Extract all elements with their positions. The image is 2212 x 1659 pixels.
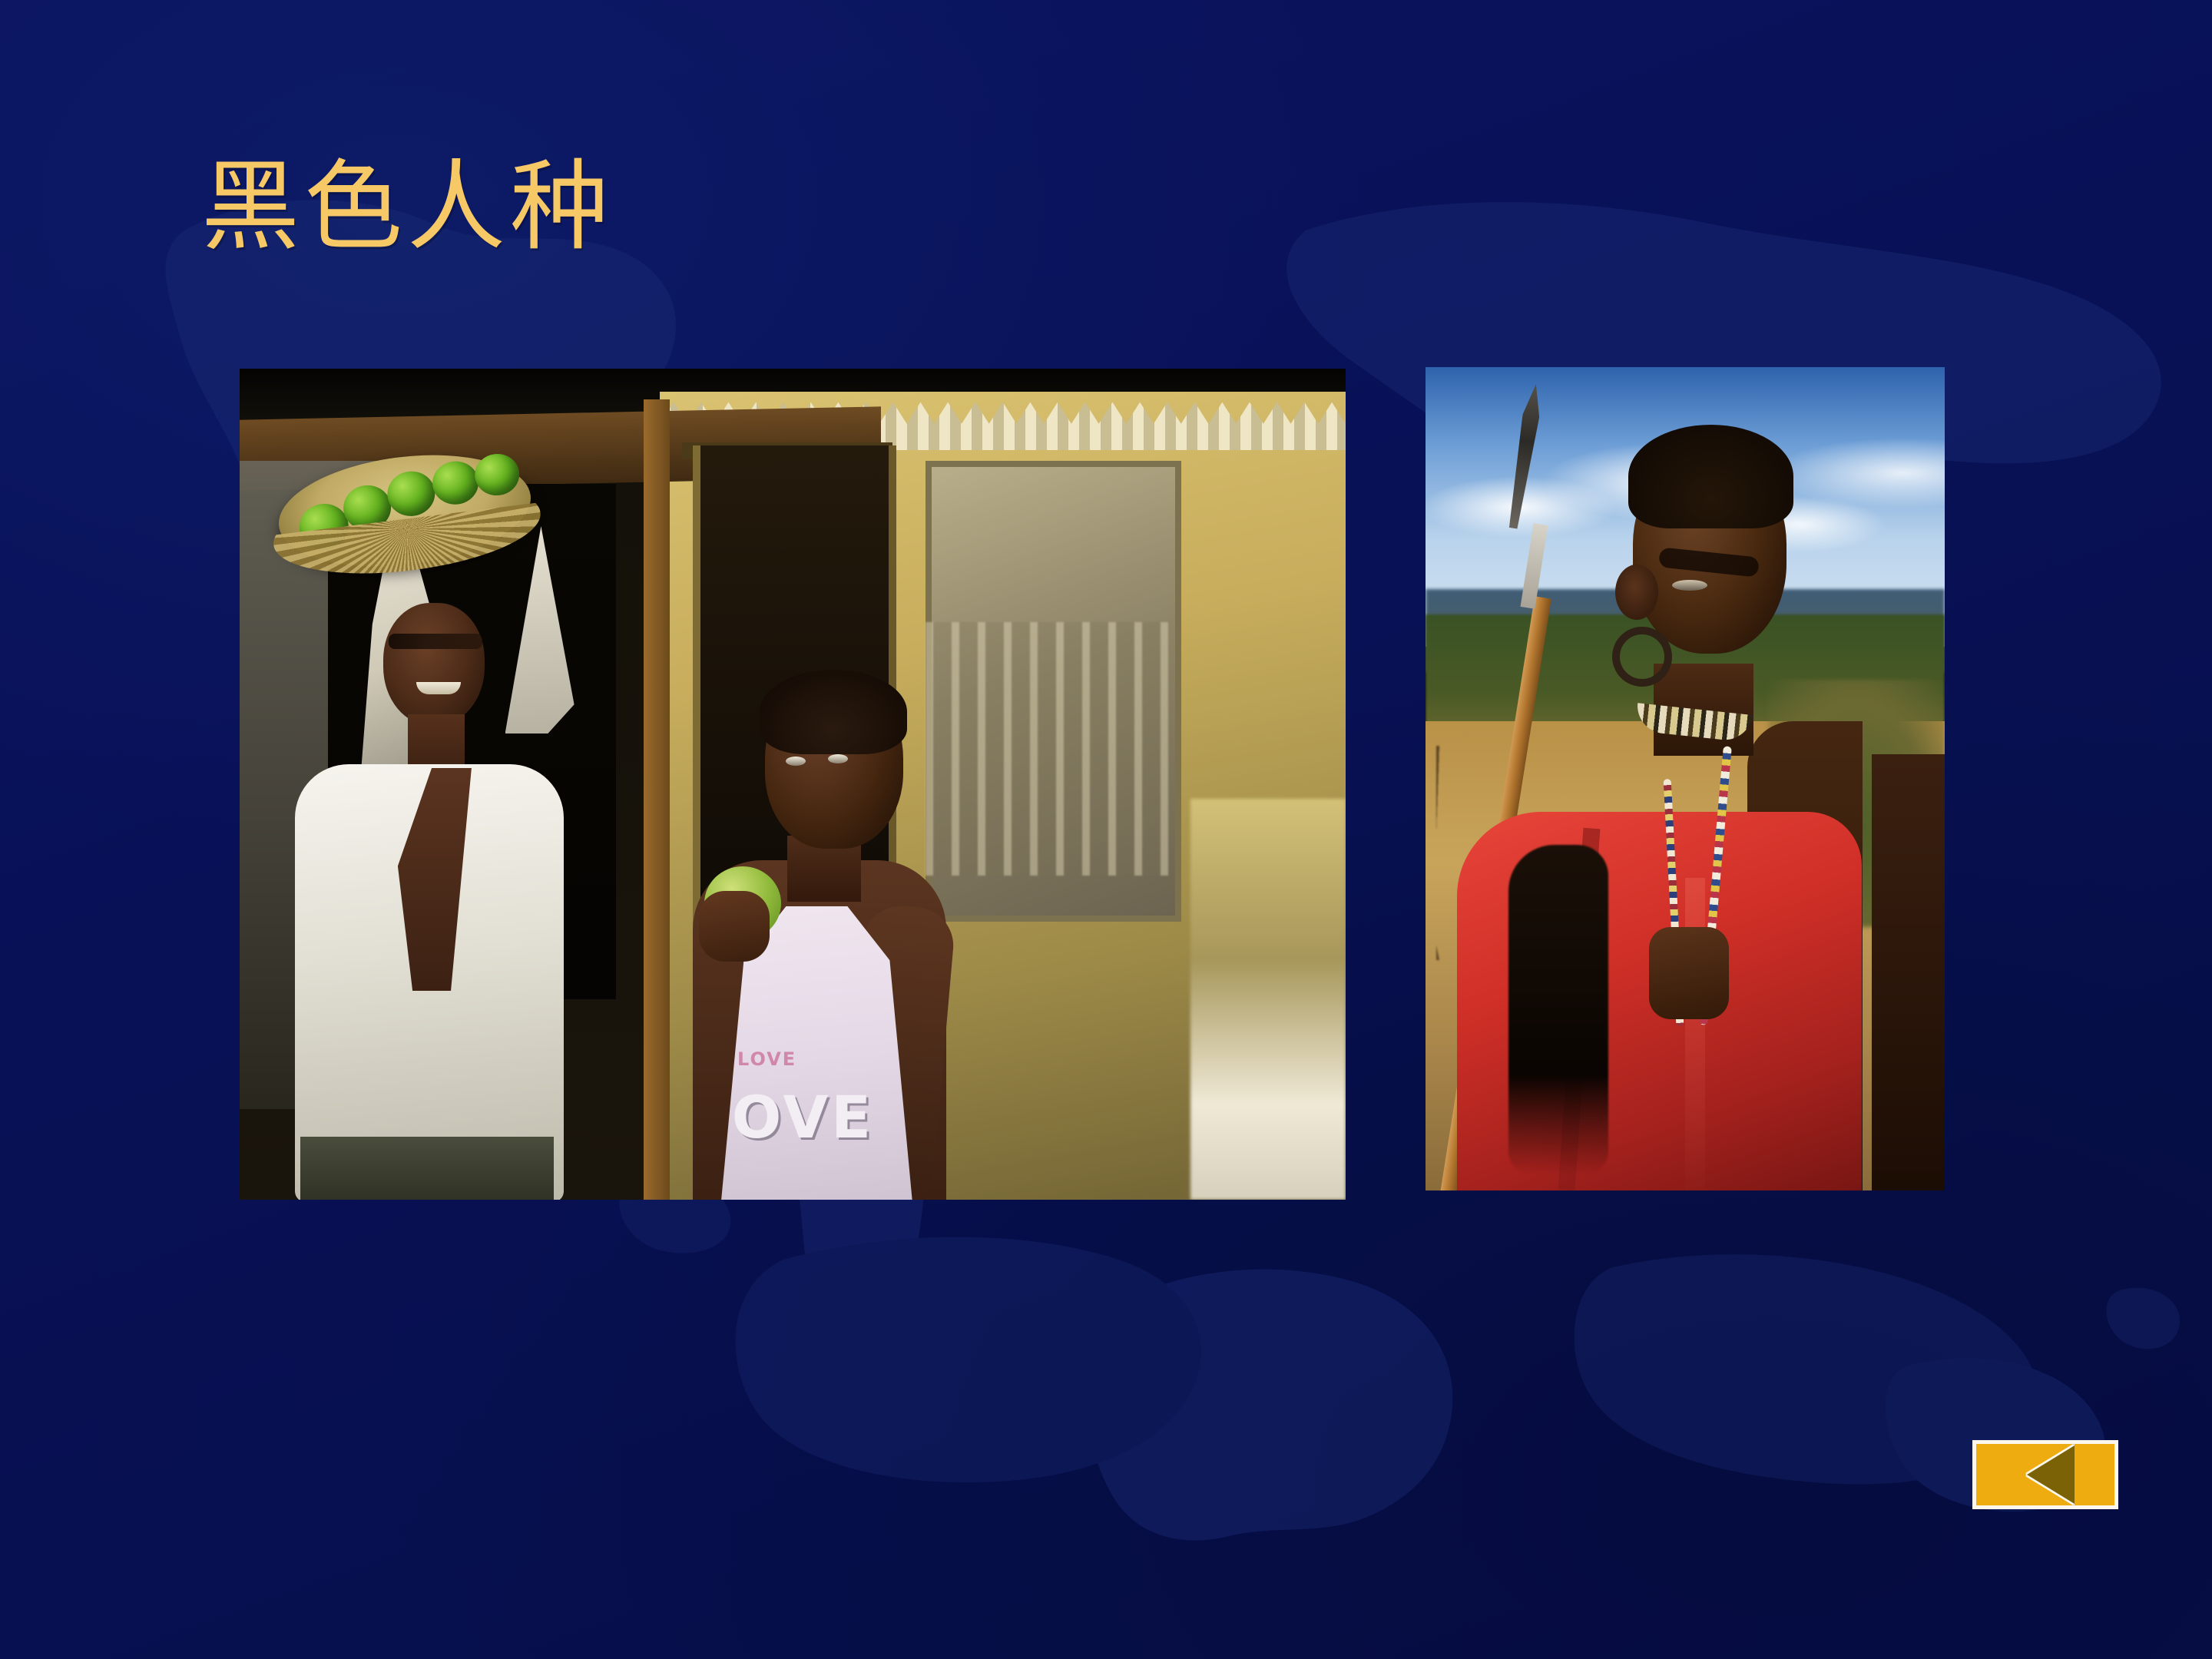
triangle-left-icon (2027, 1445, 2075, 1504)
woman-two-right-eye (828, 754, 848, 763)
warrior-ear (1615, 565, 1658, 620)
photo-women-with-fruit: LOVE OVE (240, 369, 1346, 1200)
ear-ornament (1612, 627, 1672, 687)
woman-one-smile (416, 682, 461, 694)
tank-top-text: OVE (732, 1083, 874, 1151)
hair-tassel-ornament (1508, 845, 1608, 1174)
woman-two-hand (699, 891, 770, 962)
bottles-shelf (926, 622, 1169, 876)
slide-title: 黑色人种 (201, 151, 613, 263)
warrior-hand (1649, 927, 1729, 1019)
woman-two-hair (760, 670, 907, 754)
warrior-hair (1628, 425, 1793, 528)
background-figure (1190, 799, 1346, 1200)
woman-one-eyes-shadow (389, 634, 482, 649)
woman-one-head (383, 603, 485, 726)
woman-one-waist (300, 1137, 554, 1200)
photo-maasai-warrior (1426, 367, 1945, 1190)
warrior-eye (1672, 580, 1707, 591)
shuka-fold (1685, 878, 1705, 1190)
warrior-right-arm (1872, 754, 1945, 1190)
presentation-slide: 黑色人种 (0, 0, 2212, 1659)
photo-left-scene: LOVE OVE (240, 369, 1346, 1200)
tank-top-small-text: LOVE (737, 1048, 796, 1070)
wooden-post (644, 399, 670, 1200)
photo-right-scene (1426, 367, 1945, 1190)
back-button[interactable] (1972, 1440, 2118, 1509)
